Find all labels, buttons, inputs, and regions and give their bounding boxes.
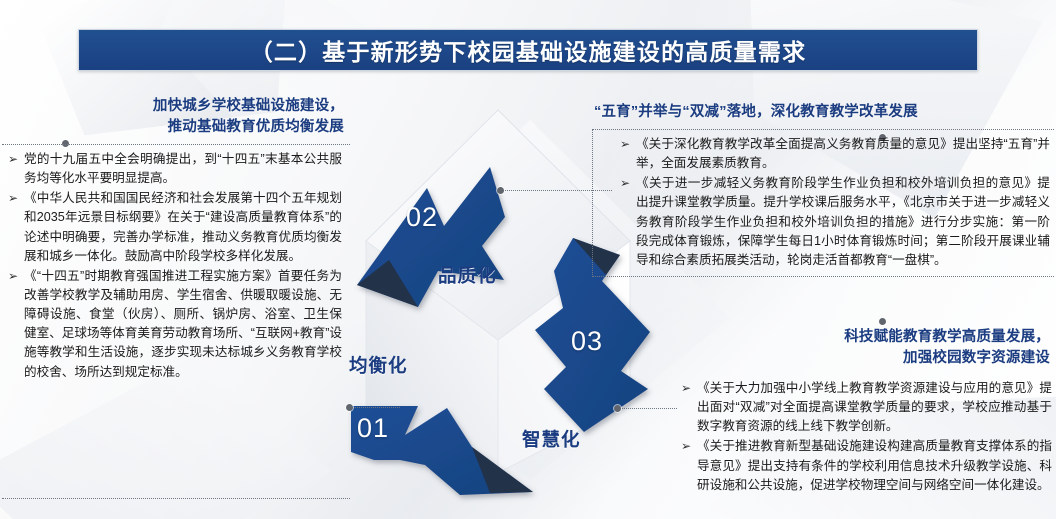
slide-canvas: （二）基于新形势下校园基础设施建设的高质量需求: [0, 0, 1056, 519]
slide-title-bar: （二）基于新形势下校园基础设施建设的高质量需求: [78, 29, 978, 71]
list-item: ➢《关于进一步减轻义务教育阶段学生作业负担和校外培训负担的意见》提出提升课堂教学…: [619, 174, 1050, 270]
arrow-label-01: 均衡化: [349, 352, 408, 378]
panel-bottom-right-heading-line1: 科技赋能教育教学高质量发展，: [660, 327, 1050, 348]
list-item: ➢《关于推进教育新型基础设施建设构建高质量教育支撑体系的指导意见》提出支持有条件…: [680, 437, 1052, 494]
list-item: ➢《关于大力加强中小学线上教育教学资源建设与应用的意见》提出面对“双减”对全面提…: [680, 379, 1052, 436]
arrow-number-02: 02: [406, 202, 438, 233]
page-title: （二）基于新形势下校园基础设施建设的高质量需求: [250, 33, 807, 67]
connector-node-03: [614, 405, 621, 412]
list-item-text: 《中华人民共和国国民经济和社会发展第十四个五年规划和2035年远景目标纲要》在关…: [24, 191, 342, 262]
panel-left-bullet-list: ➢党的十九届五中全会明确提出，到“十四五”末基本公共服务均等化水平要明显提高。 …: [7, 150, 342, 382]
list-item-text: 《关于推进教育新型基础设施建设构建高质量教育支撑体系的指导意见》提出支持有条件的…: [697, 439, 1052, 491]
panel-left-body: ➢党的十九届五中全会明确提出，到“十四五”末基本公共服务均等化水平要明显提高。 …: [2, 144, 350, 499]
arrow-number-03: 03: [571, 326, 603, 357]
panel-technology-empowered-education: 科技赋能教育教学高质量发展， 加强校园数字资源建设 ➢《关于大力加强中小学线上教…: [660, 327, 1054, 501]
list-item-text: 《关于深化教育教学改革全面提高义务教育质量的意见》提出坚持“五育”并举，全面发展…: [636, 137, 1050, 170]
panel-balanced-development: 加快城乡学校基础设施建设， 推动基础教育优质均衡发展 ➢党的十九届五中全会明确提…: [2, 96, 350, 499]
bullet-arrow-icon: ➢: [8, 267, 18, 286]
connector-line-01: [348, 407, 400, 408]
list-item-text: 《关于大力加强中小学线上教育教学资源建设与应用的意见》提出面对“双减”对全面提高…: [697, 381, 1052, 433]
connector-node-02: [497, 187, 504, 194]
panel-five-education-double-reduction: “五育”并举与“双减”落地，深化教育教学改革发展 ➢《关于深化教育教学改革全面提…: [592, 102, 1054, 277]
panel-top-right-bullet-list: ➢《关于深化教育教学改革全面提高义务教育质量的意见》提出坚持“五育”并举，全面发…: [619, 135, 1050, 270]
list-item-text: 党的十九届五中全会明确提出，到“十四五”末基本公共服务均等化水平要明显提高。: [24, 152, 342, 185]
panel-bottom-right-body: ➢《关于大力加强中小学线上教育教学资源建设与应用的意见》提出面对“双减”对全面提…: [660, 374, 1054, 501]
bullet-arrow-icon: ➢: [620, 174, 630, 193]
bullet-arrow-icon: ➢: [681, 437, 691, 456]
panel-bottom-right-heading: 科技赋能教育教学高质量发展， 加强校园数字资源建设: [660, 327, 1054, 369]
bullet-arrow-icon: ➢: [8, 150, 18, 169]
list-item: ➢《中华人民共和国国民经济和社会发展第十四个五年规划和2035年远景目标纲要》在…: [7, 189, 342, 266]
panel-bottom-right-heading-line2: 加强校园数字资源建设: [660, 348, 1050, 369]
list-item-text: 《“十四五”时期教育强国推进工程实施方案》首要任务为改善学校教学及辅助用房、学生…: [24, 269, 342, 379]
bullet-arrow-icon: ➢: [620, 135, 630, 154]
list-item: ➢党的十九届五中全会明确提出，到“十四五”末基本公共服务均等化水平要明显提高。: [7, 150, 342, 188]
panel-top-right-heading: “五育”并举与“双减”落地，深化教育教学改革发展: [592, 102, 1054, 123]
panel-left-heading-line2: 推动基础教育优质均衡发展: [2, 117, 344, 138]
panel-top-right-heading-line1: “五育”并举与“双减”落地，深化教育教学改革发展: [594, 102, 1054, 123]
arrow-label-02: 品质化: [438, 262, 497, 288]
panel-left-heading-line1: 加快城乡学校基础设施建设，: [2, 96, 344, 117]
list-item: ➢《“十四五”时期教育强国推进工程实施方案》首要任务为改善学校教学及辅助用房、学…: [7, 267, 342, 382]
list-item-text: 《关于进一步减轻义务教育阶段学生作业负担和校外培训负担的意见》提出提升课堂教学质…: [636, 176, 1050, 267]
panel-left-heading: 加快城乡学校基础设施建设， 推动基础教育优质均衡发展: [2, 96, 350, 138]
panel-top-right-body: ➢《关于深化教育教学改革全面提高义务教育质量的意见》提出坚持“五育”并举，全面发…: [592, 129, 1054, 277]
list-item: ➢《关于深化教育教学改革全面提高义务教育质量的意见》提出坚持“五育”并举，全面发…: [619, 135, 1050, 173]
panel-bottom-right-bullet-list: ➢《关于大力加强中小学线上教育教学资源建设与应用的意见》提出面对“双减”对全面提…: [680, 379, 1052, 495]
arrow-label-03: 智慧化: [522, 426, 581, 452]
bullet-arrow-icon: ➢: [8, 189, 18, 208]
connector-node-top-right-panel-end: [879, 318, 886, 325]
bullet-arrow-icon: ➢: [681, 379, 691, 398]
arrow-number-01: 01: [357, 413, 389, 444]
